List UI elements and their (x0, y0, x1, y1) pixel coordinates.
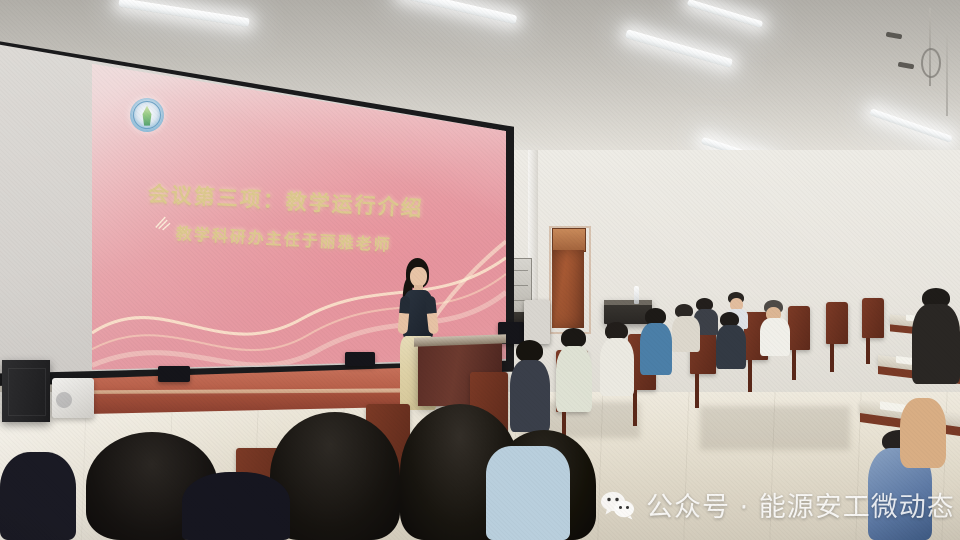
stage-monitor-1 (158, 366, 190, 382)
school-emblem-logo (130, 98, 164, 132)
audience-body (182, 472, 290, 540)
speaker-cabinet (2, 360, 50, 422)
audience-person-right-back (912, 288, 960, 384)
ceiling-hanging-wire-2 (946, 30, 948, 116)
conference-room-photo: 会议第三项：教学运行介绍 教学科研办主任于丽雅老师 (0, 0, 960, 540)
audience-body (486, 446, 570, 540)
audience-hair (516, 340, 543, 362)
audience-person-back-4 (672, 304, 700, 354)
audience-person-mid-1 (716, 312, 746, 370)
audience-person-mid-2 (640, 308, 672, 376)
av-rack (524, 300, 550, 344)
audience-person-mid-3 (600, 322, 634, 396)
audience-hair (561, 328, 586, 348)
slide-sparkle-icon (154, 213, 177, 232)
floor-equipment-unit (52, 378, 94, 418)
water-bottle (634, 286, 639, 304)
audience-body (672, 316, 700, 352)
audience-person-back-3 (760, 300, 790, 354)
audience-arm (900, 398, 946, 468)
audience-body (556, 346, 592, 412)
audience-body (0, 452, 76, 540)
audience-person-mid-4 (556, 328, 592, 412)
chair-back-1-leg (866, 338, 870, 364)
stage-monitor-2 (345, 352, 375, 366)
audience-body (600, 338, 634, 396)
audience-person-front-shirt (486, 418, 570, 540)
projected-slide: 会议第三项：教学运行介绍 教学科研办主任于丽雅老师 (92, 26, 506, 386)
wire-coil (921, 48, 941, 78)
audience-person-right-arm (900, 398, 946, 468)
presenter-face (410, 267, 427, 287)
audience-body (760, 318, 790, 356)
audience-person-left-edge (0, 452, 76, 540)
audience-body (716, 325, 746, 369)
audience-person-left-shoulder (182, 472, 290, 540)
chair-mid-1-leg (695, 374, 699, 408)
chair-back-2-leg (830, 344, 834, 372)
door-frame (549, 226, 591, 334)
chair-back-2 (826, 302, 848, 344)
chair-back-3-leg (792, 350, 796, 380)
floor-reflection-2 (700, 406, 850, 450)
console-top-surface (604, 300, 652, 305)
chair-back-1 (862, 298, 884, 338)
audience-body (640, 323, 672, 375)
audience-body (912, 304, 960, 384)
chair-back-3 (788, 306, 810, 350)
chair-back-4-leg (748, 360, 752, 392)
